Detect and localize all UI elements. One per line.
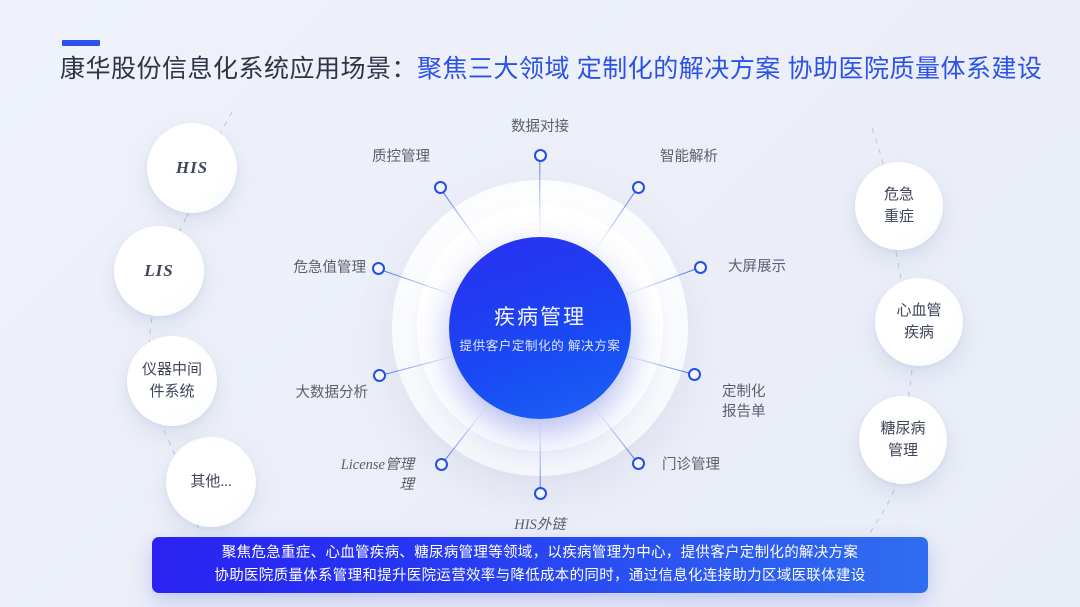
summary-banner: 聚焦危急重症、心血管疾病、糖尿病管理等领域，以疾病管理为中心，提供客户定制化的解… bbox=[152, 537, 928, 593]
spoke-marker-icon[interactable] bbox=[434, 181, 447, 194]
spoke-label: 数据对接 bbox=[511, 117, 569, 137]
spoke-label: HIS外链 bbox=[514, 515, 566, 535]
spoke-marker-icon[interactable] bbox=[372, 262, 385, 275]
spoke-label: 定制化 报告单 bbox=[722, 382, 766, 422]
spoke-marker-icon[interactable] bbox=[632, 181, 645, 194]
hub-core-circle[interactable]: 疾病管理 提供客户定制化的 解决方案 bbox=[449, 237, 631, 419]
spoke-marker-icon[interactable] bbox=[694, 261, 707, 274]
page-title-blue: 聚焦三大领域 定制化的解决方案 协助医院质量体系建设 bbox=[417, 56, 1043, 83]
system-bubble[interactable]: 其他... bbox=[166, 437, 256, 527]
system-bubble[interactable]: LIS bbox=[114, 226, 204, 316]
domain-bubble[interactable]: 危急 重症 bbox=[855, 162, 943, 250]
spoke-marker-icon[interactable] bbox=[534, 487, 547, 500]
spoke-label: 大屏展示 bbox=[728, 257, 786, 277]
hub-core-title: 疾病管理 bbox=[494, 301, 586, 331]
spoke-label: 智能解析 bbox=[660, 147, 718, 167]
spoke-line bbox=[539, 419, 540, 494]
spoke-marker-icon[interactable] bbox=[373, 369, 386, 382]
system-bubble[interactable]: HIS bbox=[147, 123, 237, 213]
hub-core-subtitle: 提供客户定制化的 解决方案 bbox=[460, 338, 621, 355]
spoke-marker-icon[interactable] bbox=[632, 457, 645, 470]
domain-bubble[interactable]: 糖尿病 管理 bbox=[859, 396, 947, 484]
summary-banner-line-2: 协助医院质量体系管理和提升医院运营效率与降低成本的同时，通过信息化连接助力区域医… bbox=[214, 565, 865, 588]
slide-canvas: 康华股份信息化系统应用场景：聚焦三大领域 定制化的解决方案 协助医院质量体系建设… bbox=[0, 0, 1080, 607]
page-title: 康华股份信息化系统应用场景：聚焦三大领域 定制化的解决方案 协助医院质量体系建设 bbox=[60, 54, 1043, 86]
spoke-marker-icon[interactable] bbox=[534, 149, 547, 162]
page-title-dark: 康华股份信息化系统应用场景： bbox=[60, 56, 417, 83]
system-bubble[interactable]: 仪器中间 件系统 bbox=[127, 336, 217, 426]
spoke-marker-icon[interactable] bbox=[435, 458, 448, 471]
domain-bubble[interactable]: 心血管 疾病 bbox=[875, 278, 963, 366]
summary-banner-line-1: 聚焦危急重症、心血管疾病、糖尿病管理等领域，以疾病管理为中心，提供客户定制化的解… bbox=[222, 542, 858, 565]
spoke-marker-icon[interactable] bbox=[688, 368, 701, 381]
spoke-label: 门诊管理 bbox=[662, 455, 720, 475]
title-accent-bar bbox=[62, 40, 100, 46]
spoke-line bbox=[539, 156, 540, 239]
